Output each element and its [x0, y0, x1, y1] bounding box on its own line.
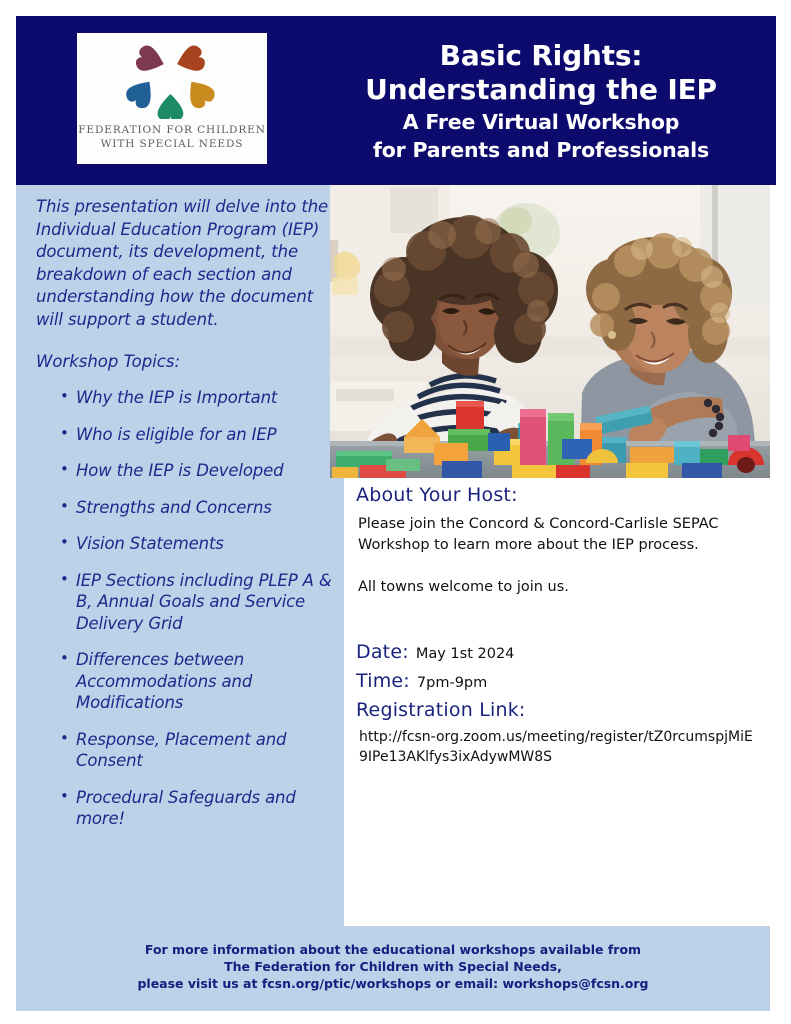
- workshop-photo: [330, 185, 770, 478]
- flyer-title-line2: Understanding the IEP: [365, 73, 717, 107]
- list-item: How the IEP is Developed: [60, 460, 332, 482]
- list-item: Procedural Safeguards and more!: [60, 787, 332, 830]
- footer-line-1: For more information about the education…: [16, 941, 770, 958]
- workshop-topics-list: Why the IEP is Important Who is eligible…: [36, 387, 332, 830]
- federation-logo-icon: [124, 41, 220, 119]
- list-item: Who is eligible for an IEP: [60, 424, 332, 446]
- footer-line-3: please visit us at fcsn.org/ptic/worksho…: [16, 975, 770, 992]
- date-value: May 1st 2024: [416, 646, 515, 662]
- logo-wordmark: FEDERATION FOR CHILDREN WITH SPECIAL NEE…: [78, 123, 266, 151]
- flyer-subtitle-line2: for Parents and Professionals: [373, 137, 709, 163]
- host-paragraph-1: Please join the Concord & Concord-Carlis…: [358, 514, 758, 556]
- list-item: Strengths and Concerns: [60, 497, 332, 519]
- list-item: Differences between Accommodations and M…: [60, 649, 332, 714]
- info-panel: About Your Host: Please join the Concord…: [344, 478, 770, 926]
- logo-text-line1: FEDERATION FOR CHILDREN: [78, 123, 266, 137]
- list-item: Vision Statements: [60, 533, 332, 555]
- registration-link[interactable]: http://fcsn-org.zoom.us/meeting/register…: [359, 727, 759, 767]
- about-host-heading: About Your Host:: [356, 484, 518, 506]
- flyer-page: FEDERATION FOR CHILDREN WITH SPECIAL NEE…: [0, 0, 791, 1024]
- flyer-title-line1: Basic Rights:: [440, 39, 643, 73]
- right-column: About Your Host: Please join the Concord…: [330, 185, 770, 926]
- list-item: Why the IEP is Important: [60, 387, 332, 409]
- header-title-group: Basic Rights: Understanding the IEP A Fr…: [306, 16, 776, 185]
- time-label: Time:: [356, 670, 410, 692]
- host-paragraph-2: All towns welcome to join us.: [358, 577, 758, 598]
- about-host-body: Please join the Concord & Concord-Carlis…: [358, 514, 758, 598]
- time-row: Time: 7pm-9pm: [356, 670, 766, 692]
- intro-paragraph: This presentation will delve into the In…: [36, 196, 332, 331]
- photo-illustration: [330, 185, 770, 478]
- list-item: IEP Sections including PLEP A & B, Annua…: [60, 570, 332, 635]
- workshop-topics-heading: Workshop Topics:: [36, 351, 332, 373]
- body-panel: This presentation will delve into the In…: [16, 185, 770, 1011]
- footer: For more information about the education…: [16, 941, 770, 992]
- list-item: Response, Placement and Consent: [60, 729, 332, 772]
- footer-line-2: The Federation for Children with Special…: [16, 958, 770, 975]
- flyer-subtitle-line1: A Free Virtual Workshop: [403, 109, 679, 135]
- date-row: Date: May 1st 2024: [356, 641, 766, 663]
- header-banner: FEDERATION FOR CHILDREN WITH SPECIAL NEE…: [16, 16, 776, 185]
- logo-text-line2: WITH SPECIAL NEEDS: [78, 137, 266, 151]
- registration-label: Registration Link:: [356, 699, 766, 721]
- event-details: Date: May 1st 2024 Time: 7pm-9pm Registr…: [356, 641, 766, 767]
- logo-box: FEDERATION FOR CHILDREN WITH SPECIAL NEE…: [77, 33, 267, 164]
- time-value: 7pm-9pm: [417, 675, 487, 691]
- left-column: This presentation will delve into the In…: [36, 196, 332, 845]
- date-label: Date:: [356, 641, 409, 663]
